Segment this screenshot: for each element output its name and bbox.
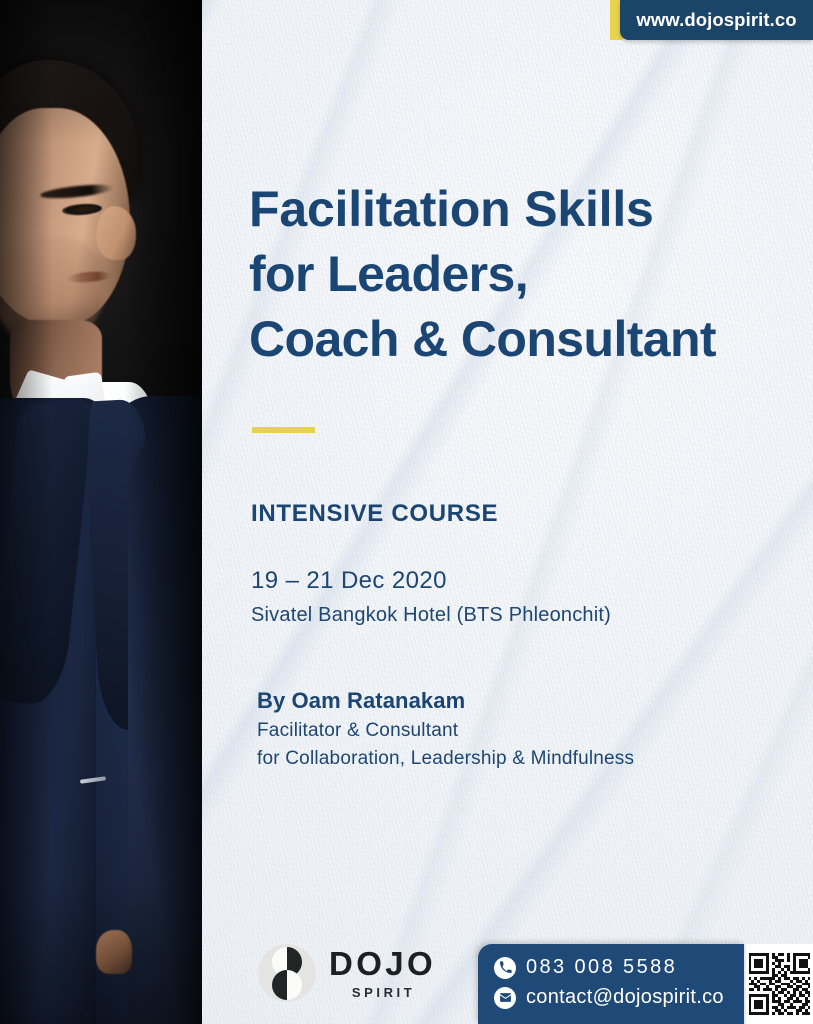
- logo-wordmark: DOJO: [329, 947, 436, 980]
- qr-code[interactable]: [749, 953, 811, 1015]
- brand-logo: DOJO SPIRIT: [258, 944, 436, 1002]
- page-title: Facilitation Skills for Leaders, Coach &…: [249, 177, 789, 372]
- contact-phone-row[interactable]: 083 008 5588: [494, 956, 744, 979]
- envelope-icon: [494, 987, 516, 1009]
- course-type-label: INTENSIVE COURSE: [251, 500, 498, 528]
- photo-hand: [96, 930, 132, 974]
- dojo-spirit-mark-icon: [258, 944, 316, 1002]
- title-line-2: for Leaders,: [249, 242, 789, 307]
- presenter-photo: [0, 0, 202, 1024]
- photo-sleeve: [128, 430, 202, 1024]
- presenter-name: By Oam Ratanakam: [257, 688, 465, 714]
- contact-phone: 083 008 5588: [526, 956, 677, 979]
- contact-bar: 083 008 5588 contact@dojospirit.co: [478, 944, 744, 1024]
- yellow-accent-dash: [252, 427, 315, 433]
- qr-code-panel: [746, 944, 813, 1024]
- presenter-role-line-2: for Collaboration, Leadership & Mindfuln…: [257, 748, 634, 770]
- title-line-3: Coach & Consultant: [249, 307, 789, 372]
- photo-nose: [96, 206, 136, 260]
- course-dates: 19 – 21 Dec 2020: [251, 567, 447, 595]
- contact-email-row[interactable]: contact@dojospirit.co: [494, 986, 744, 1009]
- logo-subtitle: SPIRIT: [329, 986, 436, 999]
- phone-icon: [494, 957, 516, 979]
- course-venue: Sivatel Bangkok Hotel (BTS Phleonchit): [251, 604, 611, 627]
- title-line-1: Facilitation Skills: [249, 177, 789, 242]
- presenter-role-line-1: Facilitator & Consultant: [257, 720, 458, 742]
- logo-wordmark-group: DOJO SPIRIT: [329, 947, 436, 999]
- mark-circle-bottom: [272, 970, 302, 1000]
- contact-email: contact@dojospirit.co: [526, 986, 724, 1009]
- content-column: Facilitation Skills for Leaders, Coach &…: [249, 0, 789, 1024]
- course-poster: www.dojospirit.co Facilitation Skills fo…: [0, 0, 813, 1024]
